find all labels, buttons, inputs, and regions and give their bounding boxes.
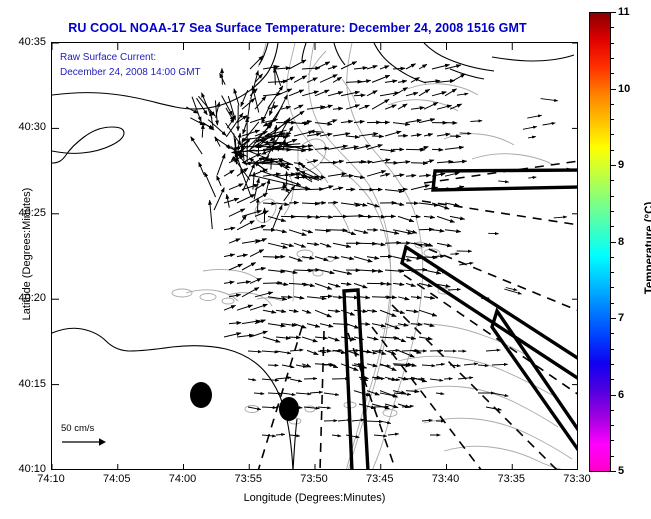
vector-scale-label: 50 cm/s [61, 423, 94, 434]
x-tick-label: 73:50 [300, 473, 328, 485]
colorbar-minor-tick [611, 134, 614, 135]
x-tick-label: 73:35 [497, 473, 525, 485]
radar-coverage-boxes [344, 170, 578, 470]
axis-tick-marks [52, 43, 578, 470]
colorbar-minor-tick [611, 27, 614, 28]
colorbar-tick-label: 8 [618, 236, 624, 248]
colorbar-tick-label: 9 [618, 159, 624, 171]
colorbar-minor-tick [611, 287, 614, 288]
colorbar-major-tick [611, 318, 616, 319]
colorbar-major-tick [611, 89, 616, 90]
colorbar-major-tick [611, 165, 616, 166]
colorbar-minor-tick [611, 333, 614, 334]
colorbar-minor-tick [611, 119, 614, 120]
dashed-radial-lines [258, 161, 578, 470]
colorbar[interactable] [589, 12, 611, 472]
colorbar-minor-tick [611, 349, 614, 350]
colorbar-gradient [590, 13, 610, 471]
colorbar-minor-tick [611, 364, 614, 365]
colorbar-tick-label: 11 [618, 6, 630, 18]
y-tick-label: 40:10 [4, 463, 46, 475]
colorbar-minor-tick [611, 456, 614, 457]
x-tick-label: 74:05 [103, 473, 131, 485]
x-tick-label: 73:40 [432, 473, 460, 485]
y-axis-label: Latitude (Degrees:Minutes) [21, 139, 33, 369]
colorbar-tick-label: 7 [618, 312, 624, 324]
colorbar-minor-tick [611, 104, 614, 105]
colorbar-tick-label: 10 [618, 83, 630, 95]
y-tick-label: 40:35 [4, 36, 46, 48]
colorbar-title: Temperature (°C) [644, 168, 651, 328]
colorbar-minor-tick [611, 226, 614, 227]
colorbar-major-tick [611, 12, 616, 13]
colorbar-major-tick [611, 471, 616, 472]
sst-current-figure: RU COOL NOAA-17 Sea Surface Temperature:… [0, 0, 651, 519]
x-tick-label: 73:45 [366, 473, 394, 485]
colorbar-minor-tick [611, 196, 614, 197]
colorbar-minor-tick [611, 440, 614, 441]
colorbar-minor-tick [611, 211, 614, 212]
x-tick-label: 73:55 [234, 473, 262, 485]
x-tick-label: 73:30 [563, 473, 591, 485]
colorbar-minor-tick [611, 379, 614, 380]
y-tick-label: 40:15 [4, 378, 46, 390]
x-tick-label: 74:00 [169, 473, 197, 485]
map-plot-area[interactable]: Raw Surface Current: December 24, 2008 1… [51, 42, 578, 470]
colorbar-tick-label: 6 [618, 389, 624, 401]
colorbar-minor-tick [611, 272, 614, 273]
map-canvas [52, 43, 578, 470]
colorbar-minor-tick [611, 180, 614, 181]
colorbar-tick-label: 5 [618, 465, 624, 477]
colorbar-minor-tick [611, 425, 614, 426]
colorbar-minor-tick [611, 257, 614, 258]
colorbar-minor-tick [611, 58, 614, 59]
colorbar-minor-tick [611, 43, 614, 44]
y-tick-label: 40:30 [4, 121, 46, 133]
vector-scale-key: 50 cm/s [61, 423, 107, 447]
x-axis-label: Longitude (Degrees:Minutes) [51, 492, 578, 504]
page-title: RU COOL NOAA-17 Sea Surface Temperature:… [0, 21, 595, 35]
colorbar-major-tick [611, 242, 616, 243]
colorbar-minor-tick [611, 410, 614, 411]
colorbar-minor-tick [611, 73, 614, 74]
colorbar-major-tick [611, 395, 616, 396]
colorbar-minor-tick [611, 150, 614, 151]
colorbar-minor-tick [611, 303, 614, 304]
right-arrow-icon [61, 437, 107, 447]
surface-current-vectors [186, 56, 570, 438]
radar-station-markers [190, 382, 299, 421]
